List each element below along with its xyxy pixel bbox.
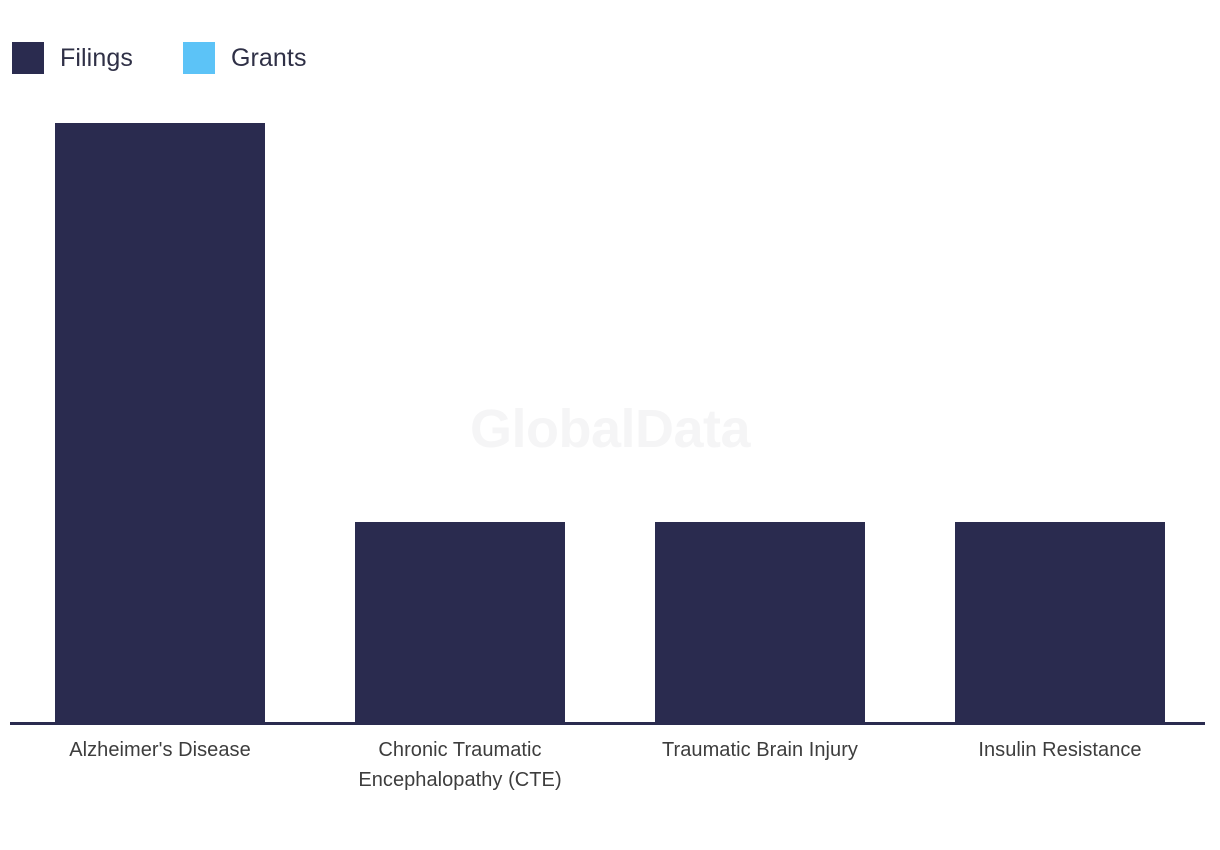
bar-filings-insulin-resistance[interactable] [955,522,1165,723]
x-axis-label-1: Chronic Traumatic Encephalopathy (CTE) [310,735,610,795]
x-axis-label-3: Insulin Resistance [910,735,1210,765]
x-axis-label-1-line2: Encephalopathy (CTE) [310,765,610,795]
x-axis-label-0-line1: Alzheimer's Disease [10,735,310,765]
bar-chart-figure: Filings Grants GlobalData Alzheimer's Di… [0,0,1220,850]
x-axis-baseline [10,722,1205,725]
plot-area: GlobalData Alzheimer's Disease Chronic T… [0,0,1220,850]
bar-filings-chronic-traumatic-encephalopathy[interactable] [355,522,565,723]
x-axis-label-0: Alzheimer's Disease [10,735,310,765]
bar-filings-traumatic-brain-injury[interactable] [655,522,865,723]
x-axis-label-2: Traumatic Brain Injury [610,735,910,765]
x-axis-label-1-line1: Chronic Traumatic [310,735,610,765]
bar-filings-alzheimers-disease[interactable] [55,123,265,723]
x-axis-category-labels: Alzheimer's Disease Chronic Traumatic En… [0,735,1220,825]
x-axis-label-3-line1: Insulin Resistance [910,735,1210,765]
x-axis-label-2-line1: Traumatic Brain Injury [610,735,910,765]
